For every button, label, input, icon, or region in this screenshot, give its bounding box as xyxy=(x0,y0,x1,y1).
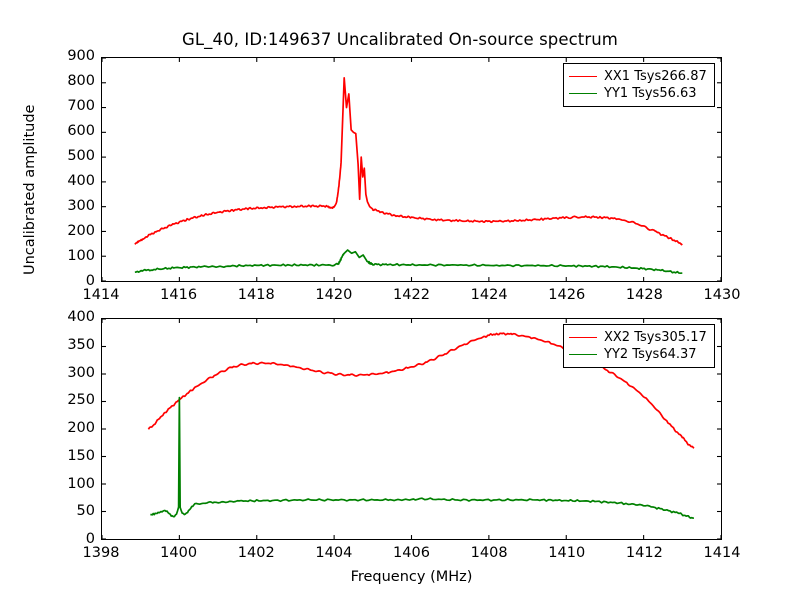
x-tick-label: 1418 xyxy=(233,287,279,303)
x-tick-label: 1422 xyxy=(389,287,435,303)
y-tick-label: 400 xyxy=(45,173,95,189)
y-tick-label: 100 xyxy=(45,248,95,264)
y-tick-label: 100 xyxy=(45,476,95,492)
legend-swatch-yy1 xyxy=(569,93,597,94)
legend-label-yy2: YY2 Tsys64.37 xyxy=(604,347,697,362)
figure-canvas: GL_40, ID:149637 Uncalibrated On-source … xyxy=(0,0,800,600)
x-tick-label: 1398 xyxy=(78,545,124,561)
y-tick-label: 0 xyxy=(45,273,95,289)
y-tick-label: 250 xyxy=(45,392,95,408)
x-tick-label: 1424 xyxy=(466,287,512,303)
legend-label-xx2: XX2 Tsys305.17 xyxy=(604,330,707,345)
y-tick-label: 500 xyxy=(45,148,95,164)
y-tick-label: 350 xyxy=(45,337,95,353)
x-tick-label: 1416 xyxy=(156,287,202,303)
x-tick-label: 1408 xyxy=(466,545,512,561)
x-tick-label: 1420 xyxy=(311,287,357,303)
y-tick-label: 200 xyxy=(45,223,95,239)
y-tick-label: 0 xyxy=(45,531,95,547)
y-tick-label: 150 xyxy=(45,448,95,464)
y-axis-label: Uncalibrated amplitude xyxy=(22,105,38,275)
legend-item-xx2: XX2 Tsys305.17 xyxy=(569,329,708,346)
legend-item-yy1: YY1 Tsys56.63 xyxy=(569,85,708,102)
top-legend: XX1 Tsys266.87 YY1 Tsys56.63 xyxy=(563,63,715,107)
x-axis-label: Frequency (MHz) xyxy=(101,569,722,585)
legend-item-xx1: XX1 Tsys266.87 xyxy=(569,68,708,85)
legend-swatch-xx1 xyxy=(569,76,597,77)
x-tick-label: 1404 xyxy=(311,545,357,561)
x-tick-label: 1406 xyxy=(389,545,435,561)
x-tick-label: 1412 xyxy=(621,545,667,561)
y-tick-label: 400 xyxy=(45,309,95,325)
y-tick-label: 800 xyxy=(45,73,95,89)
y-tick-label: 600 xyxy=(45,123,95,139)
x-tick-label: 1400 xyxy=(156,545,202,561)
y-tick-label: 300 xyxy=(45,365,95,381)
x-tick-label: 1428 xyxy=(621,287,667,303)
y-tick-label: 900 xyxy=(45,48,95,64)
y-tick-label: 700 xyxy=(45,98,95,114)
legend-swatch-yy2 xyxy=(569,354,597,355)
x-tick-label: 1402 xyxy=(233,545,279,561)
x-tick-label: 1414 xyxy=(78,287,124,303)
legend-label-yy1: YY1 Tsys56.63 xyxy=(604,86,697,101)
y-tick-label: 300 xyxy=(45,198,95,214)
legend-item-yy2: YY2 Tsys64.37 xyxy=(569,346,708,363)
series-line xyxy=(135,250,682,273)
legend-swatch-xx2 xyxy=(569,337,597,338)
y-tick-label: 50 xyxy=(45,503,95,519)
legend-label-xx1: XX1 Tsys266.87 xyxy=(604,69,707,84)
bottom-legend: XX2 Tsys305.17 YY2 Tsys64.37 xyxy=(563,324,715,368)
x-tick-label: 1426 xyxy=(544,287,590,303)
x-tick-label: 1414 xyxy=(699,545,745,561)
y-tick-label: 200 xyxy=(45,420,95,436)
series-line xyxy=(150,398,694,518)
x-tick-label: 1410 xyxy=(544,545,590,561)
page-title: GL_40, ID:149637 Uncalibrated On-source … xyxy=(0,30,800,49)
x-tick-label: 1430 xyxy=(699,287,745,303)
